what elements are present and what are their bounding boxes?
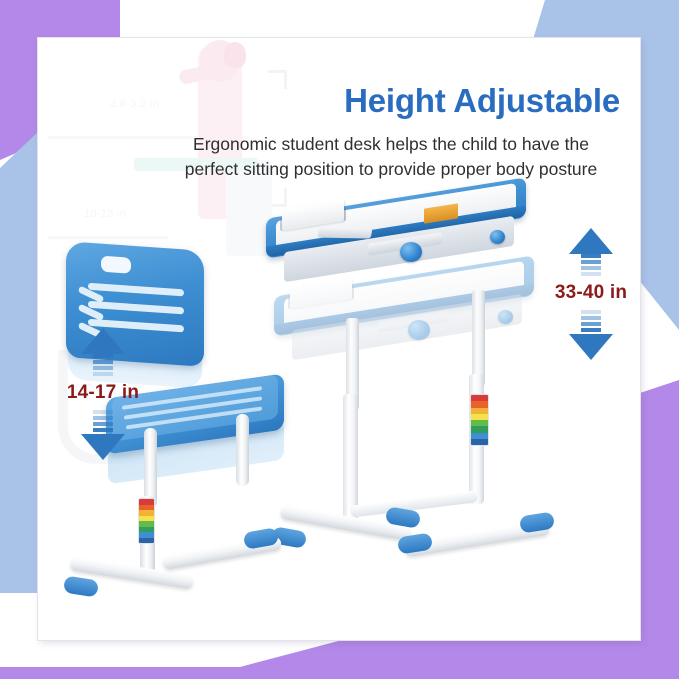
side-knob[interactable] bbox=[498, 310, 513, 324]
backrest-slot bbox=[88, 301, 184, 315]
chair-leg-upper-back bbox=[236, 414, 249, 486]
content-card: 2.8-3.2 in 10-13 in Height Adjustable Er… bbox=[38, 38, 640, 640]
chair-height-scale-sticker bbox=[138, 498, 155, 544]
arrow-head bbox=[81, 328, 125, 354]
arrow-down-icon bbox=[569, 310, 613, 360]
desk-leg-upper-right bbox=[472, 290, 485, 386]
desk-height-indicator: 33-40 in bbox=[536, 228, 640, 360]
arrow-shaft bbox=[93, 410, 113, 432]
arrow-shaft bbox=[581, 254, 601, 276]
watermark-bracket bbox=[268, 70, 287, 89]
product-infographic: 2.8-3.2 in 10-13 in Height Adjustable Er… bbox=[0, 0, 679, 679]
arrow-head bbox=[81, 434, 125, 460]
subtitle-line-1: Ergonomic student desk helps the child t… bbox=[156, 132, 626, 157]
side-knob[interactable] bbox=[490, 230, 505, 244]
tilt-adjust-knob[interactable] bbox=[400, 242, 422, 262]
backrest-slot bbox=[88, 283, 184, 297]
page-title: Height Adjustable bbox=[344, 84, 620, 117]
product-photo: 33-40 in 14-17 in bbox=[38, 168, 640, 640]
desk-height-scale-sticker bbox=[470, 394, 489, 446]
chair-height-label: 14-17 in bbox=[48, 382, 158, 404]
tilt-adjust-knob[interactable] bbox=[408, 320, 430, 340]
arrow-up-icon bbox=[569, 228, 613, 276]
arrow-up-icon bbox=[81, 328, 125, 376]
watermark-desk-height-text: 2.8-3.2 in bbox=[110, 98, 159, 110]
decorative-band-left bbox=[0, 130, 40, 560]
arrow-shaft bbox=[93, 354, 113, 376]
chair-height-indicator: 14-17 in bbox=[48, 328, 158, 460]
arrow-shaft bbox=[581, 310, 601, 332]
arrow-down-icon bbox=[81, 410, 125, 460]
desk-leg-lower-left bbox=[343, 394, 358, 522]
desk-foot-cap-right-back bbox=[519, 511, 555, 533]
chair-back-handle bbox=[101, 256, 131, 274]
tilt-arm bbox=[318, 227, 373, 238]
desk-height-label: 33-40 in bbox=[536, 282, 640, 304]
chair-foot-cap-left bbox=[63, 575, 99, 597]
arrow-head bbox=[569, 334, 613, 360]
arrow-head bbox=[569, 228, 613, 254]
watermark-child-hair bbox=[224, 42, 246, 68]
